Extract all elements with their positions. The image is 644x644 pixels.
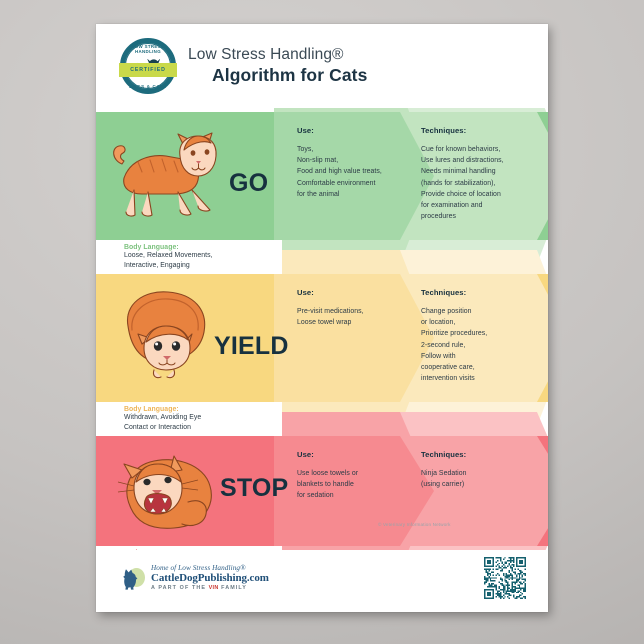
body-language-heading-go: Body Language: [124,244,282,251]
use-heading-go: Use: [297,126,415,135]
brand-family-line: A PART OF THE VIN FAMILY [151,585,269,591]
family-post: FAMILY [219,585,247,591]
use-column-go: Use:Toys, Non-slip mat, Food and high va… [297,126,415,200]
techniques-heading-stop: Techniques: [421,450,539,459]
low-stress-handling-certified-badge-icon: LOW STRESS HANDLING CERTIFIED DOGS & CAT… [120,38,176,94]
techniques-text-stop: Ninja Sedation (using carrier) [421,468,539,490]
badge-top-text: LOW STRESS HANDLING [120,44,176,54]
header-titles: Low Stress Handling® Algorithm for Cats [188,46,367,87]
poster-header: LOW STRESS HANDLING CERTIFIED DOGS & CAT… [96,24,548,108]
use-heading-stop: Use: [297,450,415,459]
body-language-yield: Body Language:Withdrawn, Avoiding Eye Co… [96,402,282,436]
brand-website[interactable]: CattleDogPublishing.com [151,572,269,584]
use-column-stop: Use:Use loose towels or blankets to hand… [297,450,415,502]
body-language-go: Body Language:Loose, Relaxed Movements, … [96,240,282,274]
body-language-heading-yield: Body Language: [124,406,282,413]
techniques-heading-yield: Techniques: [421,288,539,297]
techniques-column-yield: Techniques:Change position or location, … [421,288,539,384]
brand-tagline: Home of Low Stress Handling® [151,564,269,572]
copyright-notice: © Veterinary Information Network [378,522,451,527]
badge-certified-band: CERTIFIED [119,63,177,77]
poster-title-line-2: Algorithm for Cats [212,65,367,86]
badge-bottom-text: DOGS & CATS [120,84,176,89]
use-heading-yield: Use: [297,288,415,297]
qr-code-icon[interactable] [484,557,526,599]
badge-band-text: CERTIFIED [130,67,165,73]
techniques-column-stop: Techniques:Ninja Sedation (using carrier… [421,450,539,490]
poster-title-line-1: Low Stress Handling® [188,46,367,64]
family-pre: A PART OF THE [151,585,209,591]
techniques-text-yield: Change position or location, Prioritize … [421,306,539,384]
cat-illustration-stop [108,442,226,542]
poster-sheet: LOW STRESS HANDLING CERTIFIED DOGS & CAT… [96,24,548,612]
techniques-column-go: Techniques:Cue for known behaviors, Use … [421,126,539,222]
cattledog-publishing-logo-icon [120,565,146,591]
row-label-stop: STOP [220,474,288,503]
row-label-go: GO [229,169,268,198]
poster-footer: Home of Low Stress Handling® CattleDogPu… [96,550,548,612]
techniques-text-go: Cue for known behaviors, Use lures and d… [421,144,539,222]
use-text-yield: Pre-visit medications, Loose towel wrap [297,306,415,328]
cattledog-publishing-brand[interactable]: Home of Low Stress Handling® CattleDogPu… [120,564,269,591]
cat-illustration-go [108,120,226,224]
vin-mark: VIN [209,585,219,591]
use-column-yield: Use:Pre-visit medications, Loose towel w… [297,288,415,328]
body-language-text-yield: Withdrawn, Avoiding Eye Contact or Inter… [124,413,282,433]
techniques-heading-go: Techniques: [421,126,539,135]
body-language-text-go: Loose, Relaxed Movements, Interactive, E… [124,251,282,271]
use-text-go: Toys, Non-slip mat, Food and high value … [297,144,415,200]
cat-illustration-yield [108,282,226,386]
use-text-stop: Use loose towels or blankets to handle f… [297,468,415,502]
